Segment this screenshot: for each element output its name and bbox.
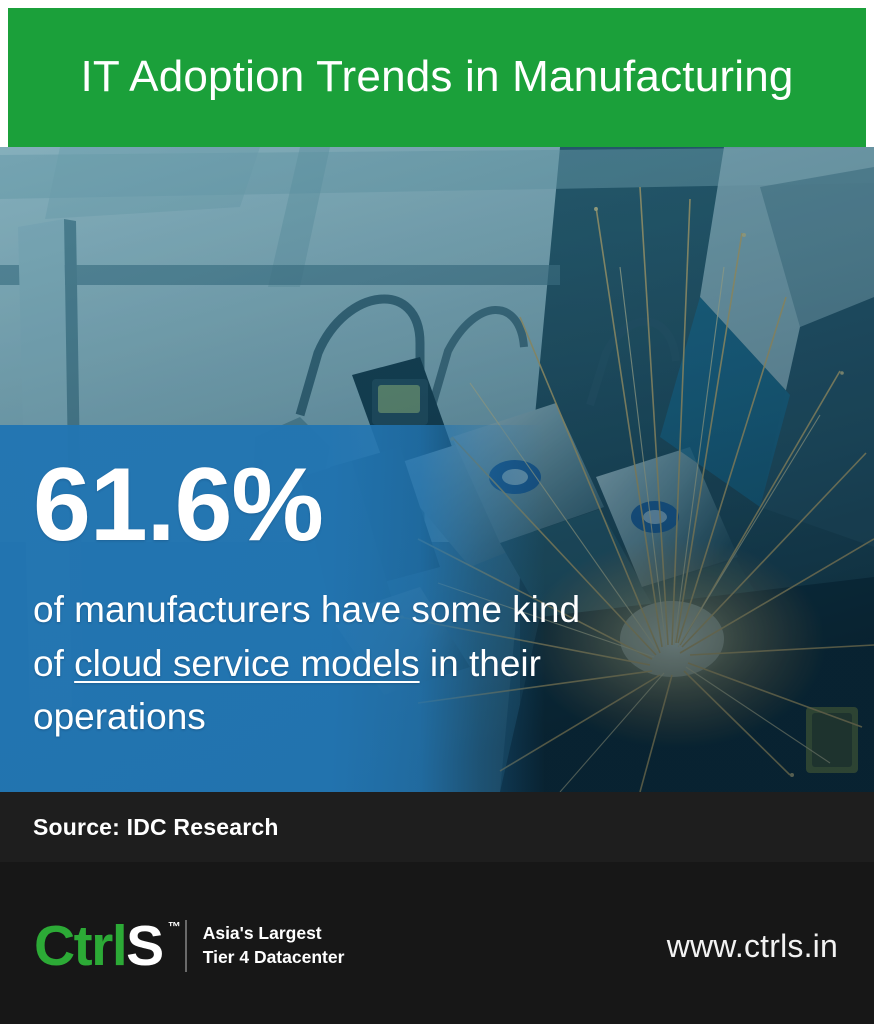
ctrls-wordmark: CtrlS ™ — [34, 918, 185, 975]
header-banner: IT Adoption Trends in Manufacturing — [8, 8, 866, 147]
logo-divider — [185, 920, 187, 972]
cloud-service-models-link[interactable]: cloud service models — [74, 643, 419, 684]
logo-tagline: Asia's Largest Tier 4 Datacenter — [203, 922, 345, 969]
website-url[interactable]: www.ctrls.in — [667, 928, 838, 965]
stat-panel: 61.6% of manufacturers have some kind of… — [0, 425, 874, 792]
logo-tagline-line1: Asia's Largest — [203, 922, 345, 946]
logo-ctrl-text: Ctrl — [34, 914, 126, 978]
infographic-card: IT Adoption Trends in Manufacturing — [0, 0, 874, 1024]
source-band: Source: IDC Research — [0, 792, 874, 862]
logo-tagline-line2: Tier 4 Datacenter — [203, 946, 345, 970]
stat-percentage: 61.6% — [33, 453, 874, 557]
logo-s-text: S — [126, 914, 163, 978]
footer-bar: CtrlS ™ Asia's Largest Tier 4 Datacenter… — [0, 862, 874, 1024]
ctrls-logo[interactable]: CtrlS ™ Asia's Largest Tier 4 Datacenter — [34, 918, 344, 975]
trademark-icon: ™ — [168, 920, 181, 933]
source-label: Source: IDC Research — [0, 814, 279, 841]
page-title: IT Adoption Trends in Manufacturing — [80, 53, 793, 101]
stat-description: of manufacturers have some kind of cloud… — [33, 583, 593, 744]
